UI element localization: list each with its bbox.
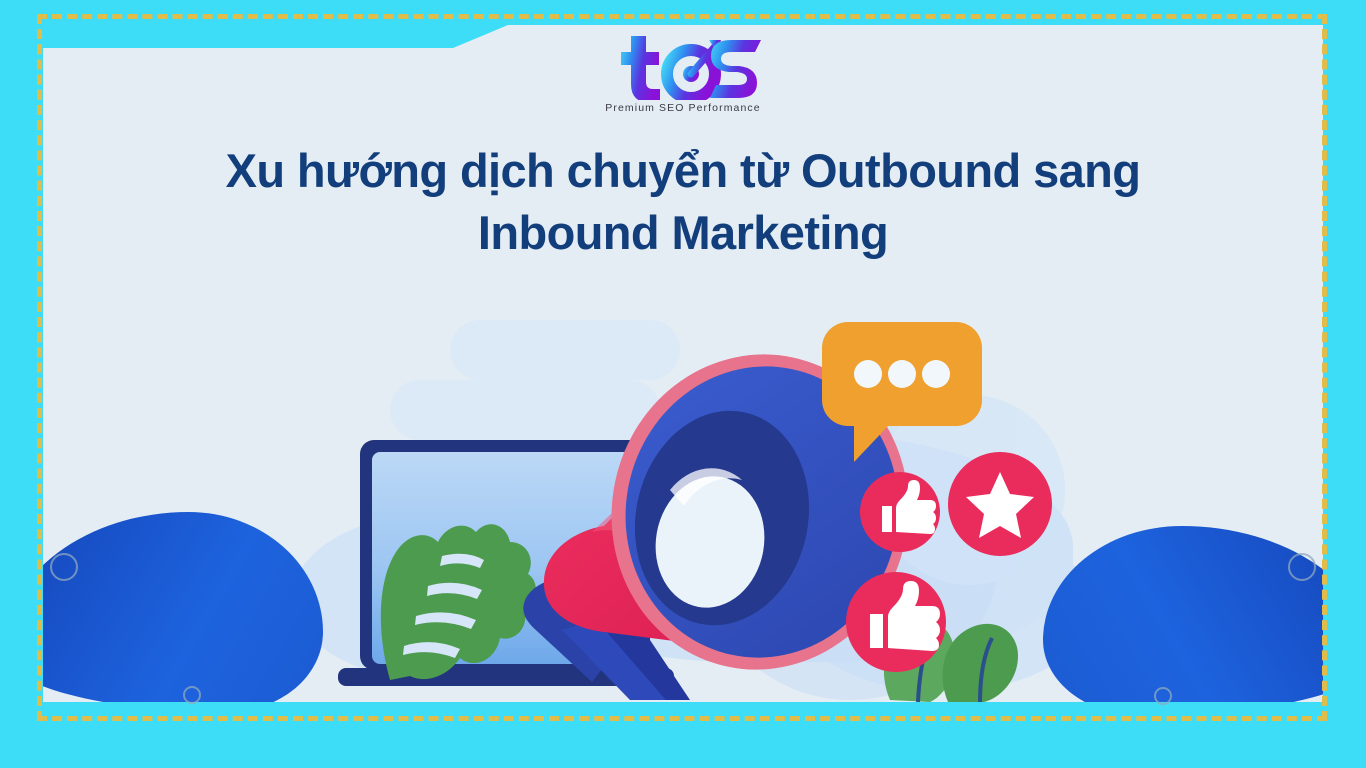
poster-canvas: Premium SEO Performance Xu hướng dịch ch…: [0, 0, 1366, 768]
page-title: Xu hướng dịch chuyển từ Outbound sang In…: [120, 140, 1246, 264]
hero-illustration: [330, 280, 1070, 702]
tos-logo-icon: [605, 30, 761, 100]
star-badge: [948, 452, 1052, 556]
page-title-line-2: Inbound Marketing: [120, 202, 1246, 264]
decorative-blob-left: [43, 512, 323, 702]
ring-decoration-bottom-left: [183, 686, 201, 704]
thumbs-up-badge-small: [860, 472, 940, 552]
thumbs-up-badge-large: [846, 572, 946, 672]
logo-tagline: Premium SEO Performance: [0, 102, 1366, 114]
ring-decoration-top-right: [1288, 553, 1316, 581]
ring-decoration-bottom-right: [1154, 687, 1172, 705]
brand-logo: Premium SEO Performance: [0, 30, 1366, 114]
ring-decoration-top-left: [50, 553, 78, 581]
decorative-blob-right: [1043, 526, 1323, 702]
page-title-line-1: Xu hướng dịch chuyển từ Outbound sang: [120, 140, 1246, 202]
